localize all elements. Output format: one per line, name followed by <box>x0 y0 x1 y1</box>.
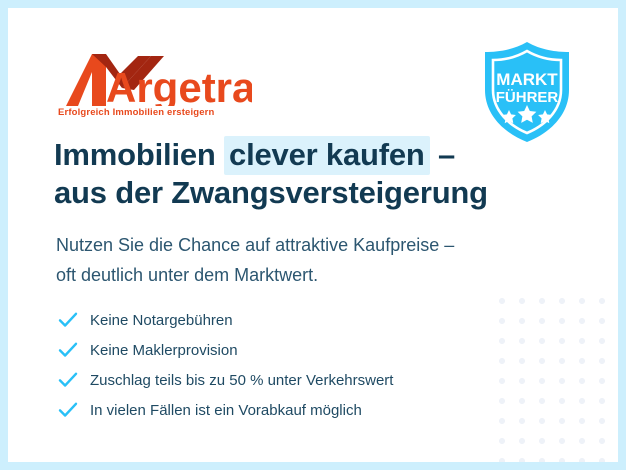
headline-line-1: Immobilien clever kaufen – <box>54 136 554 174</box>
logo-mark-row: Argetra <box>56 48 256 106</box>
list-item: Zuschlag teils bis zu 50 % unter Verkehr… <box>58 365 528 395</box>
subheading-line-2: oft deutlich unter dem Marktwert. <box>56 260 556 290</box>
list-item: In vielen Fällen ist ein Vorabkauf mögli… <box>58 395 528 425</box>
list-item: Keine Notargebühren <box>58 305 528 335</box>
headline-line-1-prefix: Immobilien <box>54 137 224 172</box>
list-item: Keine Maklerprovision <box>58 335 528 365</box>
logo-wordmark: Argetra <box>106 64 252 106</box>
check-icon <box>58 342 90 358</box>
list-item-label: In vielen Fällen ist ein Vorabkauf mögli… <box>90 402 362 419</box>
check-icon <box>58 372 90 388</box>
logo-tagline: Erfolgreich Immobilien ersteigern <box>58 107 256 118</box>
check-icon <box>58 402 90 418</box>
list-item-label: Keine Maklerprovision <box>90 342 238 359</box>
headline: Immobilien clever kaufen – aus der Zwang… <box>54 136 554 212</box>
headline-line-1-suffix: – <box>430 137 455 172</box>
argetra-roof-arrow-icon: Argetra <box>56 48 252 106</box>
subheading: Nutzen Sie die Chance auf attraktive Kau… <box>56 230 556 290</box>
badge-line-2: FÜHRER <box>496 89 559 106</box>
badge-line-1: MARKT <box>496 70 558 89</box>
banner-canvas: Argetra Erfolgreich Immobilien ersteiger… <box>8 8 618 462</box>
market-leader-badge: MARKT FÜHRER <box>478 40 576 144</box>
benefit-list: Keine Notargebühren Keine Maklerprovisio… <box>58 305 528 425</box>
headline-line-2: aus der Zwangsversteigerung <box>54 174 554 212</box>
subheading-line-1: Nutzen Sie die Chance auf attraktive Kau… <box>56 230 556 260</box>
list-item-label: Keine Notargebühren <box>90 312 233 329</box>
headline-highlight: clever kaufen <box>224 136 430 175</box>
check-icon <box>58 312 90 328</box>
argetra-logo[interactable]: Argetra Erfolgreich Immobilien ersteiger… <box>56 48 256 118</box>
promo-banner: Argetra Erfolgreich Immobilien ersteiger… <box>0 0 626 470</box>
list-item-label: Zuschlag teils bis zu 50 % unter Verkehr… <box>90 372 393 389</box>
shield-badge-icon: MARKT FÜHRER <box>478 40 576 144</box>
